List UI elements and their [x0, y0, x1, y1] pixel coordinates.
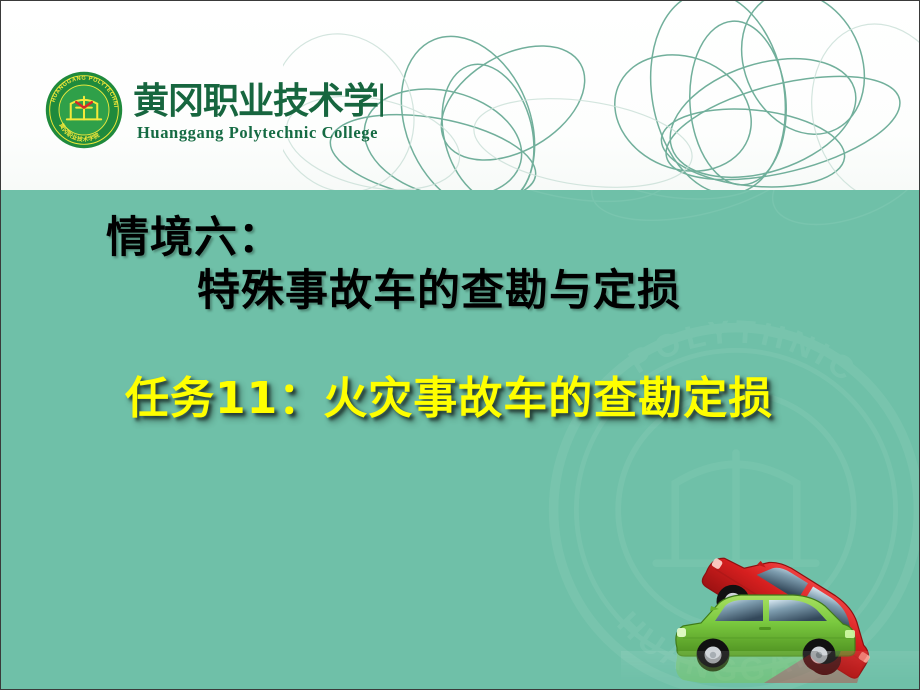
college-name-cn: 黄冈职业技术学院	[133, 78, 383, 122]
page-subtitle: 任务11：火灾事故车的查勘定损	[125, 375, 773, 423]
slide-header: HUANGGANG POLYTECHNIC COLLEGE 黄冈职业技术学院	[1, 1, 919, 190]
page-title-line-2: 特殊事故车的查勘与定损	[197, 265, 919, 318]
college-name-en: Huanggang Polytechnic College	[137, 125, 383, 142]
college-name-block: 黄冈职业技术学院 Huanggang Polytechnic College	[133, 78, 383, 142]
svg-text:黄冈职业技术学院: 黄冈职业技术学院	[133, 80, 383, 122]
cars-graphic	[621, 520, 919, 689]
college-seal-icon: HUANGGANG POLYTECHNIC COLLEGE 黄冈职业技术学院	[45, 71, 123, 149]
slide-body: POLYTHNIC HUANGGANG 情境六： 特殊事故车的查勘与定损 任务1…	[1, 190, 919, 689]
college-logo: HUANGGANG POLYTECHNIC COLLEGE 黄冈职业技术学院	[45, 71, 383, 149]
collided-cars-illustration	[621, 520, 919, 689]
page-title-line-1: 情境六：	[106, 212, 919, 265]
presentation-slide: HUANGGANG POLYTECHNIC COLLEGE 黄冈职业技术学院	[0, 0, 920, 690]
title-block: 情境六： 特殊事故车的查勘与定损	[1, 212, 919, 319]
